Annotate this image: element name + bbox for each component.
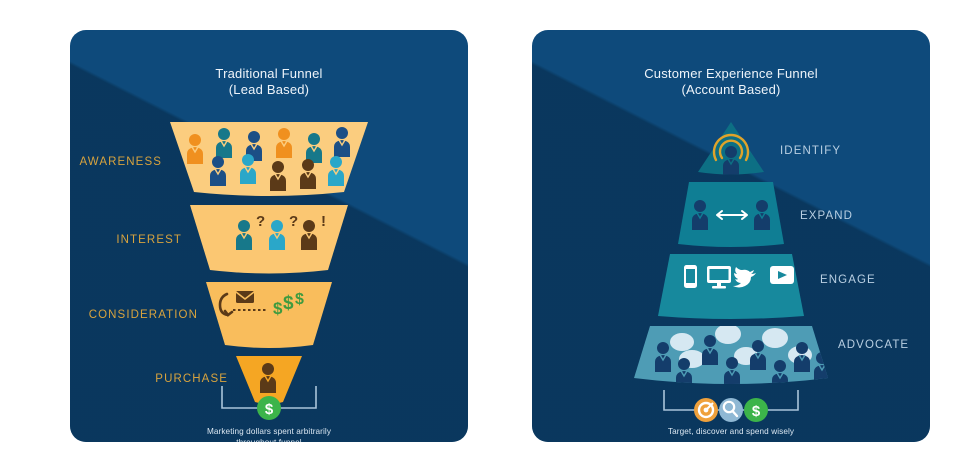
panel-traditional-funnel: Traditional Funnel (Lead Based) xyxy=(70,30,468,442)
stage-label-interest: INTEREST xyxy=(116,234,182,246)
svg-text:$: $ xyxy=(295,291,304,308)
smartphone-icon xyxy=(684,265,697,288)
stage-label-identify: IDENTIFY xyxy=(780,145,841,157)
person-icon xyxy=(269,220,285,250)
person-icon xyxy=(355,158,371,188)
person-icon xyxy=(814,352,830,382)
svg-text:$: $ xyxy=(273,299,283,318)
funnel-band-awareness xyxy=(170,122,377,196)
caption-left-line2: throughout funnel xyxy=(70,437,468,442)
question-mark-icon: ? xyxy=(289,213,298,230)
person-icon xyxy=(754,200,770,230)
panel-customer-experience-funnel: Customer Experience Funnel (Account Base… xyxy=(532,30,930,442)
person-icon xyxy=(772,360,788,390)
funnel-band-interest: ? ? ! xyxy=(190,205,348,274)
stage-label-expand: EXPAND xyxy=(800,210,853,222)
stage-label-consideration: CONSIDERATION xyxy=(89,309,198,321)
stage-label-advocate: ADVOCATE xyxy=(838,339,909,351)
person-icon xyxy=(236,220,252,250)
caption-right: Target, discover and spend wisely xyxy=(532,426,930,437)
speech-bubble-icon xyxy=(715,324,741,344)
caption-left: Marketing dollars spent arbitrarily thro… xyxy=(70,426,468,442)
person-icon xyxy=(692,200,708,230)
person-icon xyxy=(260,363,276,393)
person-icon xyxy=(702,335,718,365)
video-play-icon xyxy=(770,266,794,284)
caption-left-line1: Marketing dollars spent arbitrarily xyxy=(70,426,468,437)
person-icon xyxy=(210,156,226,186)
person-icon xyxy=(306,133,322,163)
person-icon xyxy=(334,127,350,157)
person-icon xyxy=(328,156,344,186)
person-icon xyxy=(794,342,810,372)
infographic-canvas: Traditional Funnel (Lead Based) xyxy=(0,0,974,472)
person-icon xyxy=(723,146,739,176)
pyramid-band-expand xyxy=(678,182,784,247)
person-icon xyxy=(270,161,286,191)
person-icon xyxy=(276,128,292,158)
magnifier-badge xyxy=(719,398,743,422)
purchase-icons-group xyxy=(260,363,276,393)
speech-bubble-icon xyxy=(762,328,788,348)
person-icon xyxy=(724,357,740,387)
person-icon xyxy=(655,342,671,372)
caption-right-line1: Target, discover and spend wisely xyxy=(532,426,930,437)
question-mark-icon: ? xyxy=(256,213,265,230)
person-icon xyxy=(216,128,232,158)
dollar-badge: $ xyxy=(744,398,768,422)
svg-text:$: $ xyxy=(752,403,761,420)
pyramid-band-identify xyxy=(698,122,764,176)
speech-bubble-icon xyxy=(670,333,694,351)
funnel-graphic-right: $ IDENTIFY EXPAND ENGAGE ADVOCATE xyxy=(532,30,930,442)
stage-label-awareness: AWARENESS xyxy=(79,156,162,168)
person-icon xyxy=(676,358,692,388)
envelope-icon xyxy=(236,291,254,303)
exclamation-mark-icon: ! xyxy=(321,213,326,230)
person-icon xyxy=(750,340,766,370)
person-icon xyxy=(301,220,317,250)
pyramid-band-advocate xyxy=(634,324,830,390)
funnel-band-consideration: $ $ $ xyxy=(206,282,332,348)
funnel-graphic-left: ? ? ! xyxy=(70,30,468,442)
pyramid-band-engage xyxy=(658,254,804,319)
person-icon xyxy=(361,131,377,161)
dollar-badge: $ xyxy=(257,396,281,420)
svg-text:$: $ xyxy=(265,401,274,418)
person-icon xyxy=(300,159,316,189)
stage-label-engage: ENGAGE xyxy=(820,274,876,286)
stage-label-purchase: PURCHASE xyxy=(155,373,228,385)
svg-text:$: $ xyxy=(283,293,294,314)
target-badge xyxy=(694,398,718,422)
person-icon xyxy=(240,154,256,184)
person-icon xyxy=(187,134,203,164)
